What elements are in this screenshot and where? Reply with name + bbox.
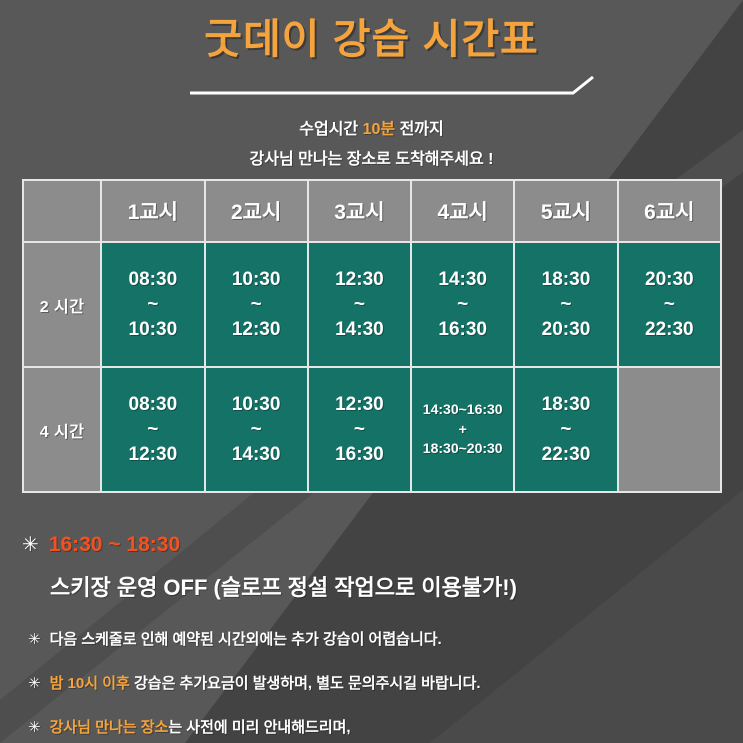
- closure-time-range: 16:30 ~ 18:30: [49, 533, 180, 556]
- column-header-6: 6교시: [618, 180, 721, 242]
- column-header-4: 4교시: [411, 180, 514, 242]
- table-header-row: 1교시 2교시 3교시 4교시 5교시 6교시: [23, 180, 721, 242]
- schedule-poster: 굿데이 강습 시간표 수업시간 10분 전까지 강사님 만나는 장소로 도착해주…: [0, 0, 743, 743]
- note-text: 는 사전에 미리 안내해드리며,: [168, 719, 350, 736]
- closure-time-line: ✳16:30 ~ 18:30: [22, 532, 722, 557]
- closure-description: 스키장 운영 OFF (슬로프 정설 작업으로 이용불가!): [50, 570, 722, 602]
- subtitle-post: 전까지: [395, 121, 444, 138]
- note-text: 강습은 추가요금이 발생하며, 별도 문의주시길 바랍니다.: [130, 675, 481, 692]
- subtitle-pre: 수업시간: [299, 121, 362, 138]
- slot-4h-5[interactable]: 18:30 ~ 22:30: [514, 367, 617, 492]
- note-text: 다음 스케줄로 인해 예약된 시간외에는 추가 강습이 어렵습니다.: [50, 631, 442, 648]
- subtitle-accent: 10분: [363, 121, 396, 138]
- column-header-2: 2교시: [205, 180, 308, 242]
- slot-2h-5[interactable]: 18:30 ~ 20:30: [514, 242, 617, 367]
- slot-4h-1[interactable]: 08:30 ~ 12:30: [101, 367, 204, 492]
- note-item: ✳강사님 만나는 장소는 사전에 미리 안내해드리며, 강습시작 30분 전에 …: [28, 716, 728, 743]
- asterisk-icon: ✳: [28, 719, 41, 736]
- asterisk-icon: ✳: [22, 534, 39, 556]
- row-label-2h: 2 시간: [23, 242, 101, 367]
- slot-4h-4[interactable]: 14:30~16:30 + 18:30~20:30: [411, 367, 514, 492]
- asterisk-icon: ✳: [28, 675, 41, 692]
- column-header-1: 1교시: [101, 180, 204, 242]
- slot-4h-3[interactable]: 12:30 ~ 16:30: [308, 367, 411, 492]
- footer-notes: ✳다음 스케줄로 인해 예약된 시간외에는 추가 강습이 어렵습니다. ✳밤 1…: [28, 628, 728, 743]
- table-row: 2 시간 08:30 ~ 10:30 10:30 ~ 12:30 12:30 ~…: [23, 242, 721, 367]
- slot-2h-6[interactable]: 20:30 ~ 22:30: [618, 242, 721, 367]
- row-label-4h: 4 시간: [23, 367, 101, 492]
- subtitle-line-2: 강사님 만나는 장소로 도착해주세요 !: [0, 145, 743, 169]
- title-underline-icon: [188, 75, 608, 97]
- subtitle-line-1: 수업시간 10분 전까지: [0, 115, 743, 139]
- table-row: 4 시간 08:30 ~ 12:30 10:30 ~ 14:30 12:30 ~…: [23, 367, 721, 492]
- note-accent: 밤 10시 이후: [50, 675, 130, 692]
- page-title: 굿데이 강습 시간표: [204, 14, 539, 65]
- schedule-table: 1교시 2교시 3교시 4교시 5교시 6교시 2 시간 08:30 ~ 10:…: [22, 179, 722, 493]
- column-header-5: 5교시: [514, 180, 617, 242]
- schedule-table-wrapper: 1교시 2교시 3교시 4교시 5교시 6교시 2 시간 08:30 ~ 10:…: [22, 179, 722, 493]
- slot-4h-6-empty: [618, 367, 721, 492]
- table-corner-cell: [23, 180, 101, 242]
- slot-2h-4[interactable]: 14:30 ~ 16:30: [411, 242, 514, 367]
- closure-notice: ✳16:30 ~ 18:30 스키장 운영 OFF (슬로프 정설 작업으로 이…: [22, 532, 722, 602]
- slot-2h-2[interactable]: 10:30 ~ 12:30: [205, 242, 308, 367]
- asterisk-icon: ✳: [28, 631, 41, 648]
- slot-2h-1[interactable]: 08:30 ~ 10:30: [101, 242, 204, 367]
- slot-2h-3[interactable]: 12:30 ~ 14:30: [308, 242, 411, 367]
- table-body: 2 시간 08:30 ~ 10:30 10:30 ~ 12:30 12:30 ~…: [23, 242, 721, 492]
- title-block: 굿데이 강습 시간표: [0, 14, 743, 65]
- slot-4h-2[interactable]: 10:30 ~ 14:30: [205, 367, 308, 492]
- note-item: ✳다음 스케줄로 인해 예약된 시간외에는 추가 강습이 어렵습니다.: [28, 628, 728, 649]
- note-accent: 강사님 만나는 장소: [50, 719, 169, 736]
- table-header: 1교시 2교시 3교시 4교시 5교시 6교시: [23, 180, 721, 242]
- column-header-3: 3교시: [308, 180, 411, 242]
- note-item: ✳밤 10시 이후 강습은 추가요금이 발생하며, 별도 문의주시길 바랍니다.: [28, 672, 728, 693]
